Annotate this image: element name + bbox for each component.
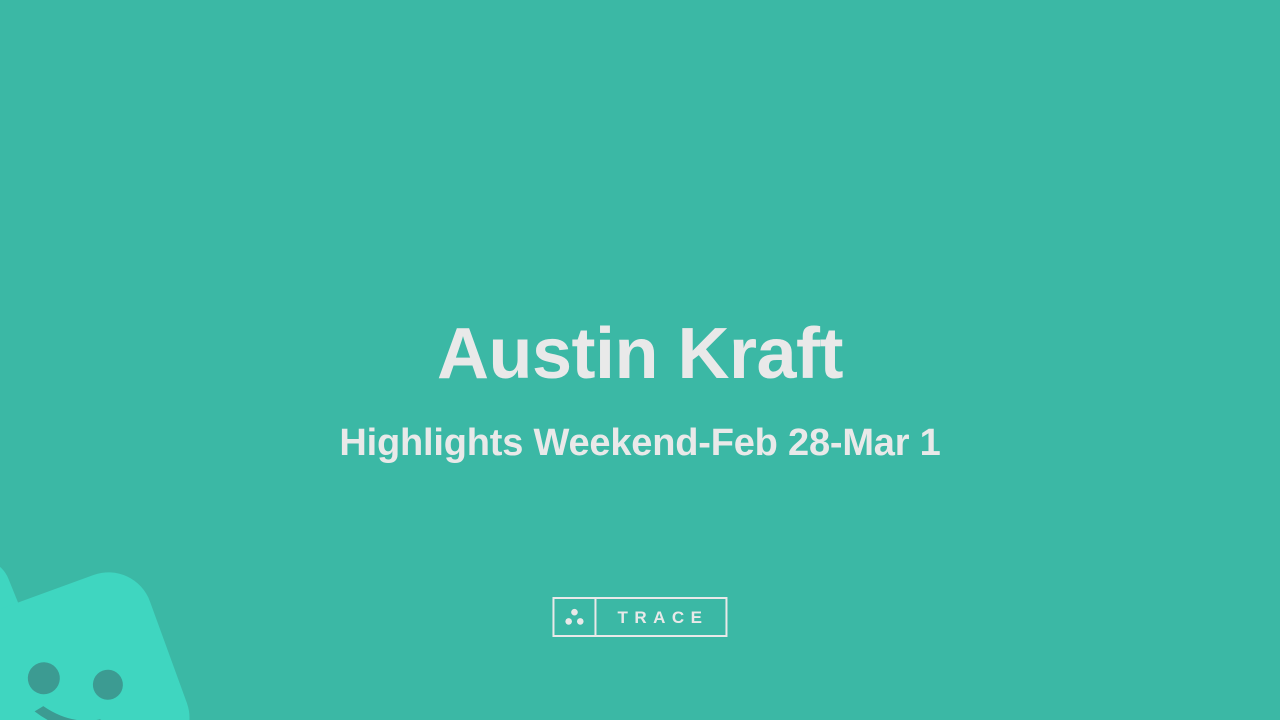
- page-subtitle: Highlights Weekend-Feb 28-Mar 1: [0, 424, 1280, 462]
- trace-wordmark: TRACE: [596, 599, 725, 635]
- three-dots-triangle-icon: [554, 599, 596, 635]
- title-slide: Austin Kraft Highlights Weekend-Feb 28-M…: [0, 0, 1280, 720]
- page-title: Austin Kraft: [0, 318, 1280, 390]
- trace-logo: TRACE: [552, 597, 727, 637]
